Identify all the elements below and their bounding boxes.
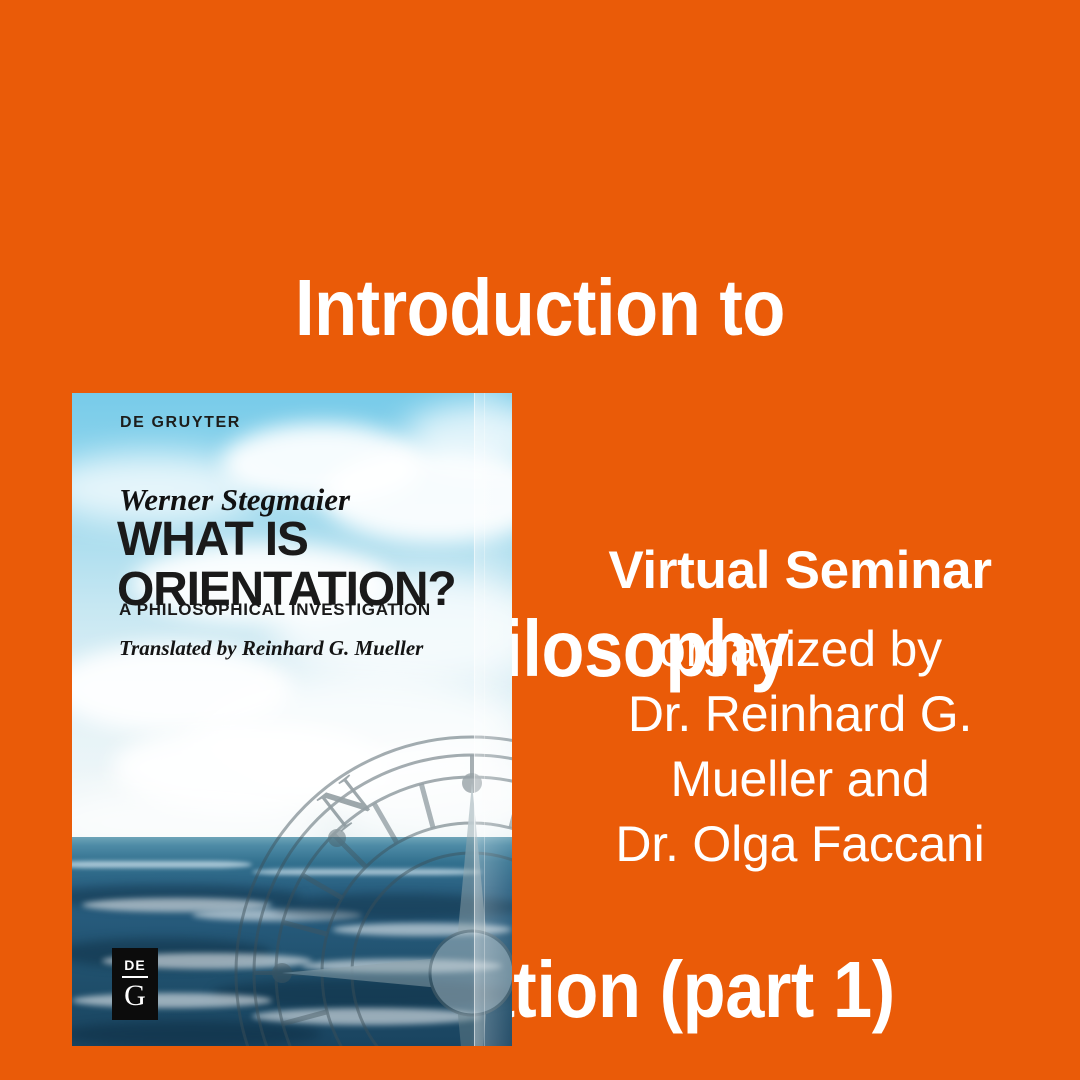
logo-top-text: DE bbox=[124, 958, 145, 972]
headline-line-1: Introduction to bbox=[65, 251, 1015, 365]
logo-bottom-text: G bbox=[124, 981, 146, 1011]
book-cover-artwork: N ne bbox=[72, 393, 512, 1046]
organizer-line-1: Dr. Reinhard G. bbox=[545, 682, 1055, 747]
page-edge-line bbox=[484, 393, 485, 1046]
cover-title-line-1: WHAT IS bbox=[117, 515, 455, 565]
de-gruyter-logo: DE G bbox=[112, 948, 158, 1020]
page-edge-band bbox=[474, 393, 512, 1046]
compass-rose-icon: N ne bbox=[222, 723, 512, 1046]
logo-divider bbox=[122, 976, 148, 978]
page-edge-line bbox=[474, 393, 475, 1046]
cover-publisher: DE GRUYTER bbox=[120, 414, 241, 432]
organizer-line-3: Dr. Olga Faccani bbox=[545, 812, 1055, 877]
organizer-line-2: Mueller and bbox=[545, 747, 1055, 812]
event-title: Virtual Seminar bbox=[545, 540, 1055, 603]
organized-by-label: organized by bbox=[545, 617, 1055, 682]
event-details: Virtual Seminar organized by Dr. Reinhar… bbox=[545, 540, 1055, 877]
compass-label-n: N bbox=[307, 763, 384, 844]
cover-translator: Translated by Reinhard G. Mueller bbox=[119, 636, 423, 661]
seminar-poster: Introduction to the Philosophy of Orient… bbox=[0, 0, 1080, 1080]
book-cover-image: N ne bbox=[72, 393, 512, 1046]
cover-subtitle: A PHILOSOPHICAL INVESTIGATION bbox=[119, 600, 431, 620]
spacer bbox=[545, 603, 1055, 617]
